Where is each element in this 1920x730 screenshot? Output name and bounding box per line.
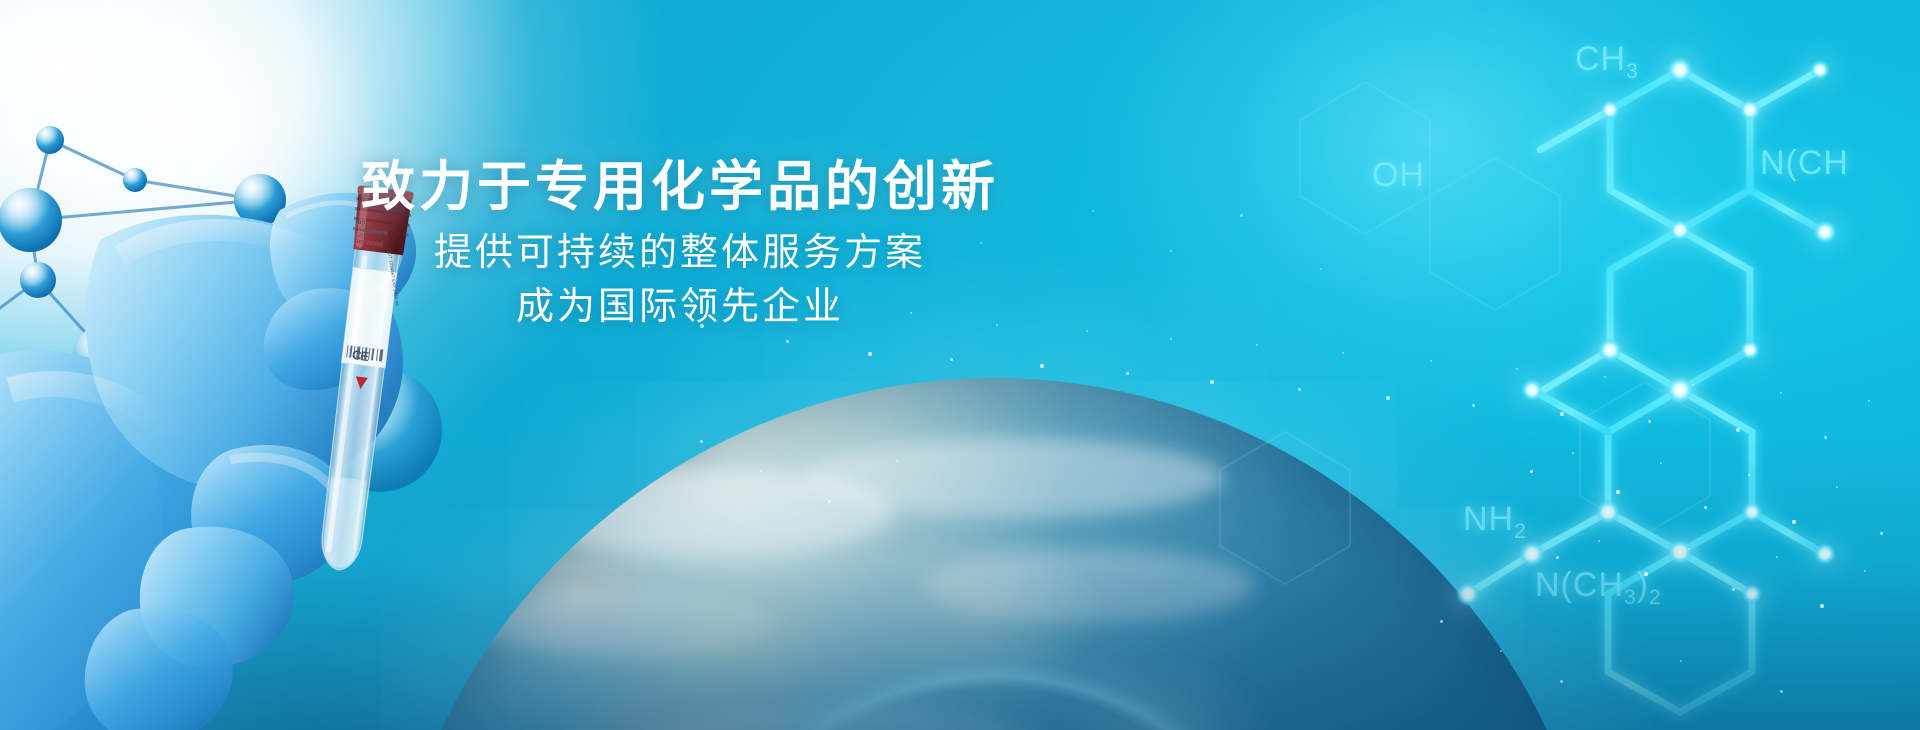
gloved-hand-graphic <box>0 60 500 730</box>
hero-banner: CH3 OH N(CH NH2 N(CH3)2 <box>0 0 1920 730</box>
amine-right-clipped-label: N(CH <box>1760 144 1849 183</box>
hydroxyl-label: OH <box>1372 156 1425 195</box>
methyl-label: CH3 <box>1575 40 1639 84</box>
test-tube-label: BD Vacutainer® CAT REF 368815 <box>354 220 391 249</box>
ce-mark-label: CE <box>351 347 369 364</box>
